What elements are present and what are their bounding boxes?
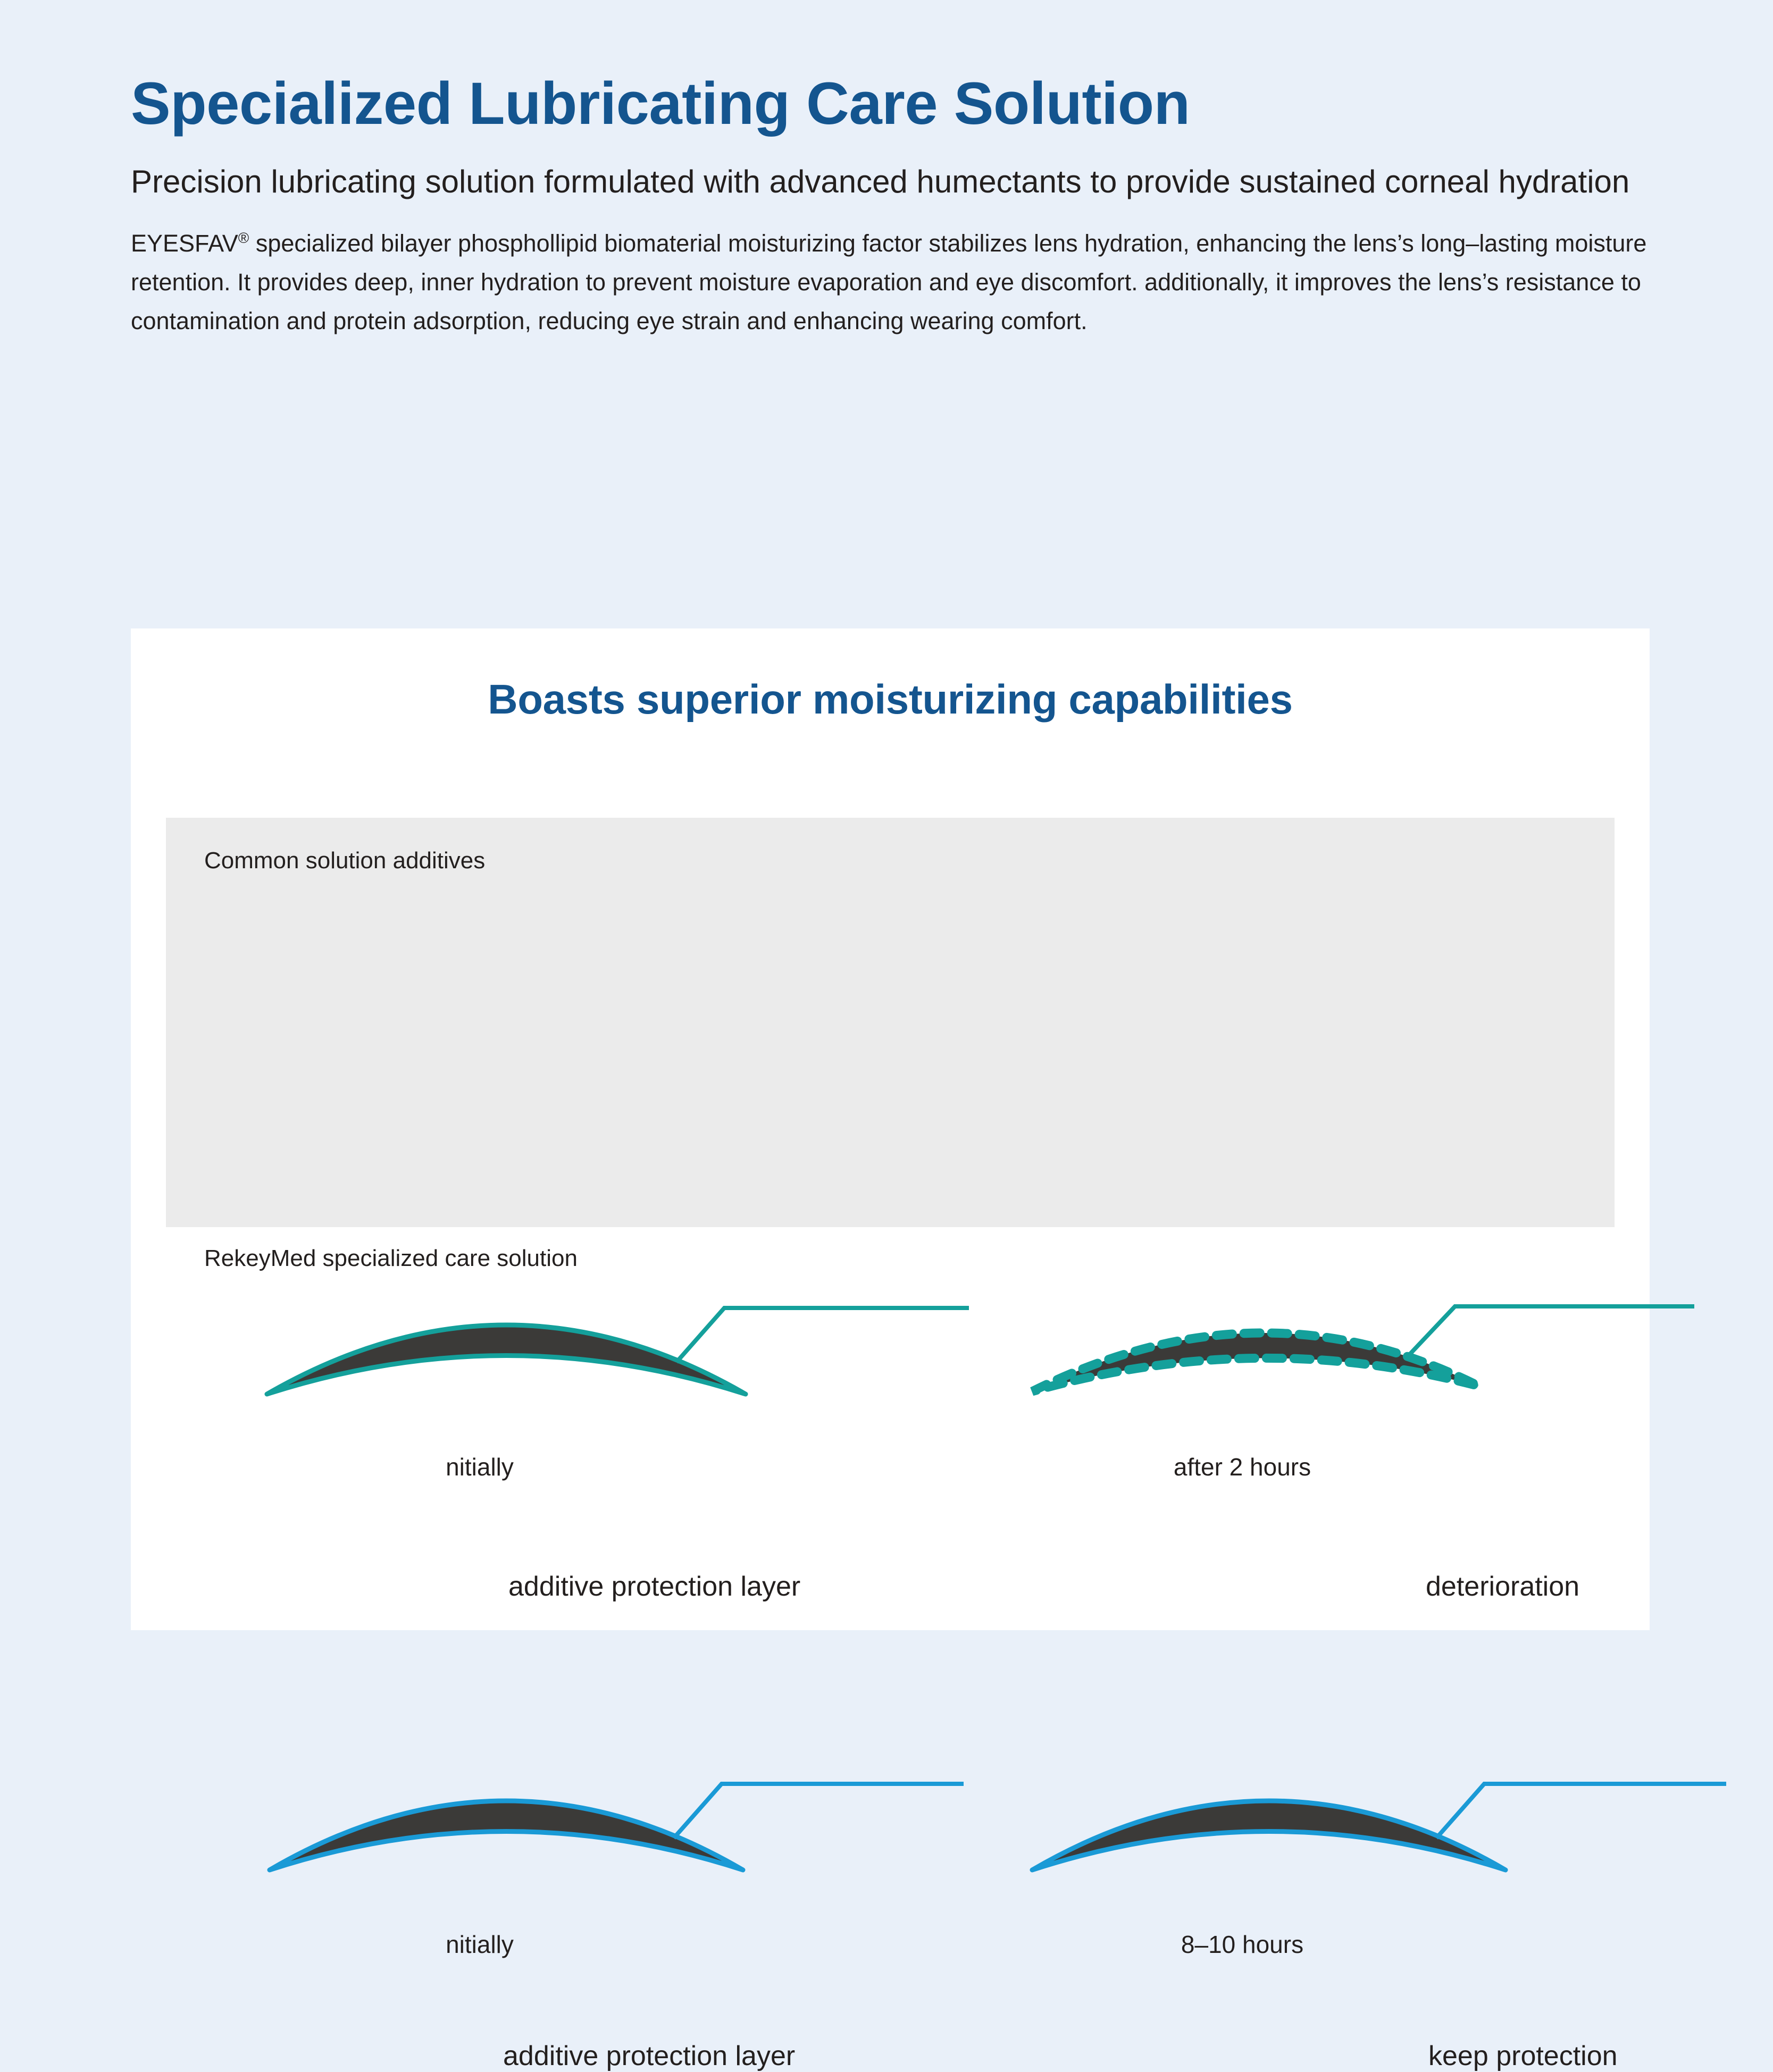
lens-crescent-shape bbox=[1032, 1801, 1506, 1870]
lens-caption-8-10-hours: 8–10 hours bbox=[929, 1930, 1556, 1959]
body-copy: specialized bilayer phosphollipid biomat… bbox=[131, 230, 1646, 335]
callout-leader-line bbox=[674, 1784, 964, 1838]
callout-label-additive-protection-layer-2: additive protection layer bbox=[503, 2040, 795, 2072]
page-title: Specialized Lubricating Care Solution bbox=[131, 69, 1662, 138]
lens-figure-rekeymed-8-10-hours bbox=[929, 1641, 1609, 1897]
lens-crescent-shape-deteriorated bbox=[1032, 1333, 1479, 1391]
page-header: Specialized Lubricating Care Solution Pr… bbox=[131, 69, 1662, 341]
brand-name: EYESFAV bbox=[131, 230, 238, 257]
card-title: Boasts superior moisturizing capabilitie… bbox=[131, 675, 1650, 724]
lens-crescent-shape bbox=[270, 1801, 743, 1870]
lens-caption-initially-1: nitially bbox=[166, 1453, 793, 1481]
lens-crescent-shape bbox=[267, 1325, 746, 1394]
callout-leader-line bbox=[676, 1308, 969, 1362]
lens-figure-rekeymed-initial bbox=[166, 1641, 847, 1897]
callout-leader-line bbox=[1436, 1784, 1726, 1838]
callout-leader-line bbox=[1410, 1306, 1694, 1354]
common-additives-label: Common solution additives bbox=[204, 848, 485, 874]
registered-trademark-icon: ® bbox=[238, 230, 249, 246]
callout-label-additive-protection-layer-1: additive protection layer bbox=[508, 1571, 800, 1603]
callout-label-keep-protection: keep protection bbox=[1428, 2040, 1618, 2072]
lens-figure-common-initial bbox=[166, 1165, 847, 1421]
lens-caption-after-2-hours: after 2 hours bbox=[929, 1453, 1556, 1481]
comparison-card: Boasts superior moisturizing capabilitie… bbox=[131, 628, 1650, 1630]
lens-figure-common-after-2-hours bbox=[929, 1165, 1609, 1421]
page-subtitle: Precision lubricating solution formulate… bbox=[131, 162, 1657, 203]
page-body-paragraph: EYESFAV® specialized bilayer phosphollip… bbox=[131, 224, 1662, 341]
callout-label-deterioration: deterioration bbox=[1426, 1571, 1579, 1603]
lens-caption-initially-2: nitially bbox=[166, 1930, 793, 1959]
